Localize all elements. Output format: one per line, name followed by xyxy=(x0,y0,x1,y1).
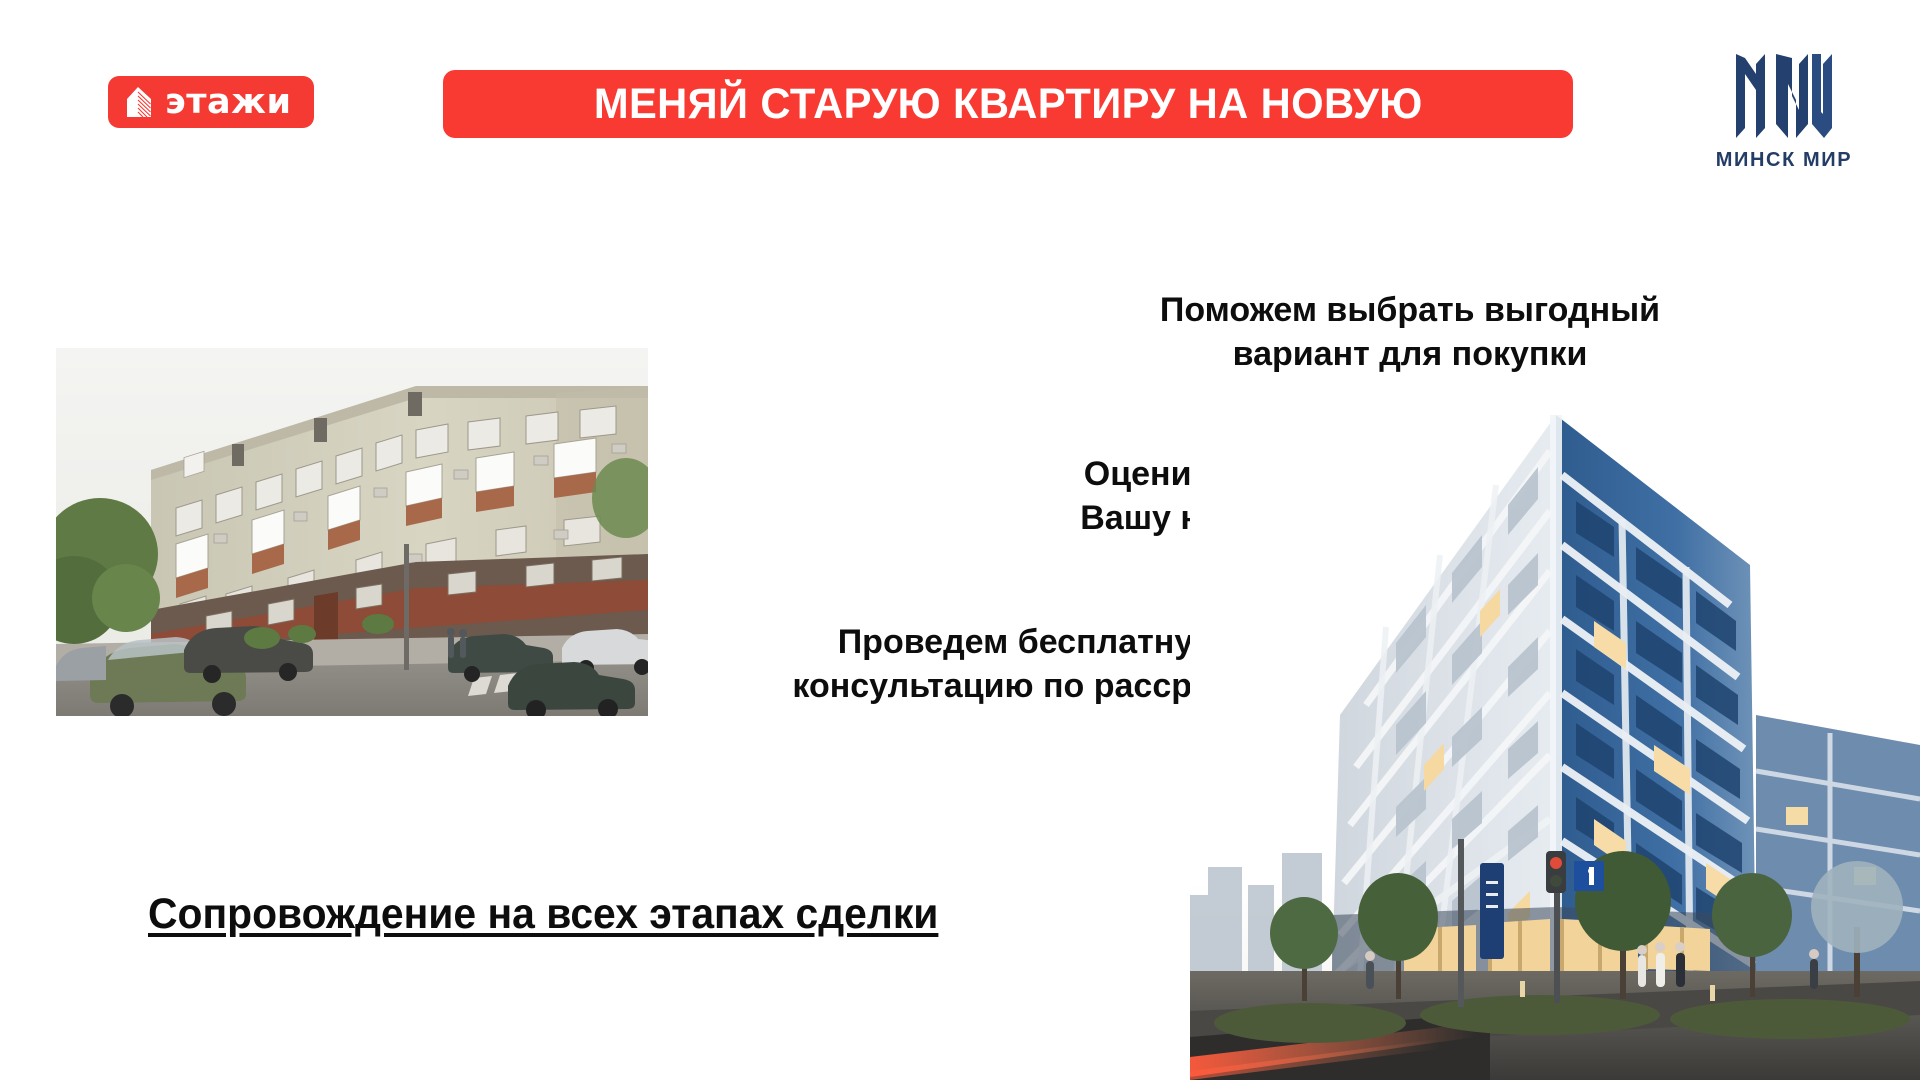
new-building-illustration xyxy=(1190,415,1920,1080)
mw-monogram-icon xyxy=(1732,50,1836,142)
footer-claim-text: Сопровождение на всех этапах сделки xyxy=(148,890,938,939)
benefit-text-1: Поможем выбрать выгодный вариант для пок… xyxy=(1090,288,1730,376)
building-mark-icon xyxy=(124,86,154,118)
headline-banner: МЕНЯЙ СТАРУЮ КВАРТИРУ НА НОВУЮ xyxy=(443,70,1573,138)
minsk-mir-logo[interactable]: МИНСК МИР xyxy=(1718,50,1850,178)
minsk-mir-label: МИНСК МИР xyxy=(1716,149,1852,172)
old-building-illustration xyxy=(56,348,648,716)
slide-root: этажи МЕНЯЙ СТАРУЮ КВАРТИРУ НА НОВУЮ МИН… xyxy=(0,0,1920,1080)
headline-text: МЕНЯЙ СТАРУЮ КВАРТИРУ НА НОВУЮ xyxy=(594,80,1423,129)
etazhi-logo[interactable]: этажи xyxy=(108,76,314,128)
new-building-photo xyxy=(1190,415,1920,1080)
old-building-photo xyxy=(56,348,648,716)
etazhi-logo-label: этажи xyxy=(165,85,292,120)
